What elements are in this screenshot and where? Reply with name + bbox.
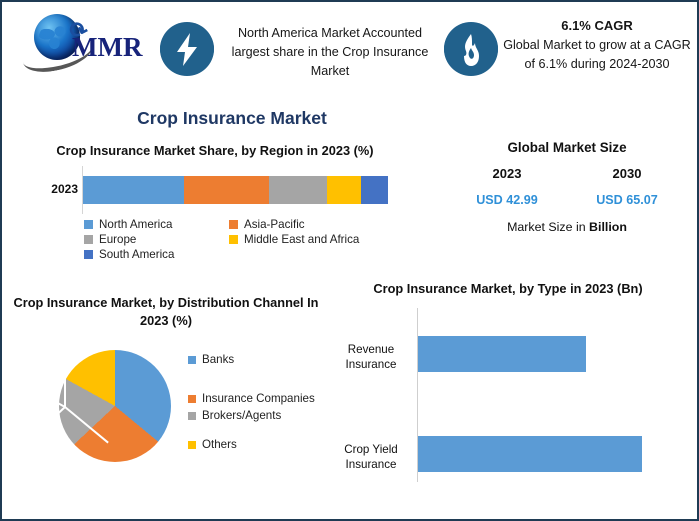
region-chart-title: Crop Insurance Market Share, by Region i… bbox=[10, 142, 420, 160]
region-plot-area: 2023 bbox=[10, 166, 420, 214]
legend-swatch bbox=[188, 356, 196, 364]
region-segment bbox=[269, 176, 327, 204]
region-stacked-bar bbox=[83, 176, 388, 204]
pie-legend-item: Banks bbox=[188, 352, 328, 367]
legend-label: Brokers/Agents bbox=[202, 408, 281, 423]
cagr-description: Global Market to grow at a CAGR of 6.1% … bbox=[503, 38, 691, 71]
gms-unit: Market Size in Billion bbox=[442, 220, 692, 234]
pie-chart-title: Crop Insurance Market, by Distribution C… bbox=[10, 294, 322, 330]
gms-unit-bold: Billion bbox=[589, 220, 627, 234]
legend-label: Middle East and Africa bbox=[244, 233, 359, 246]
legend-label: Europe bbox=[99, 233, 136, 246]
cagr-headline: 6.1% CAGR bbox=[502, 16, 692, 35]
region-share-chart: Crop Insurance Market Share, by Region i… bbox=[10, 142, 420, 261]
pie-legend-item: Brokers/Agents bbox=[188, 408, 328, 423]
legend-label: Insurance Companies bbox=[202, 391, 315, 406]
distribution-channel-chart: Crop Insurance Market, by Distribution C… bbox=[10, 294, 330, 490]
gms-unit-prefix: Market Size in bbox=[507, 220, 589, 234]
page-title: Crop Insurance Market bbox=[2, 108, 462, 129]
region-segment bbox=[361, 176, 388, 204]
type-bar bbox=[418, 336, 586, 372]
flame-icon bbox=[444, 22, 498, 76]
region-legend-item: South America bbox=[84, 248, 229, 261]
region-category-label: 2023 bbox=[20, 182, 78, 196]
region-legend-item: Asia-Pacific bbox=[229, 218, 414, 231]
pie-chart bbox=[59, 350, 171, 462]
gms-year-2023: 2023 bbox=[447, 166, 567, 181]
legend-label: Others bbox=[202, 437, 237, 452]
legend-label: South America bbox=[99, 248, 174, 261]
type-bar-label: Revenue Insurance bbox=[332, 342, 410, 372]
type-bar-label: Crop Yield Insurance bbox=[332, 442, 410, 472]
legend-swatch bbox=[84, 235, 93, 244]
infographic-frame: MMR ⟳ North America Market Accounted lar… bbox=[0, 0, 699, 521]
gms-value-2023: USD 42.99 bbox=[447, 193, 567, 207]
legend-swatch bbox=[229, 220, 238, 229]
region-segment bbox=[327, 176, 361, 204]
gms-value-2030: USD 65.07 bbox=[567, 193, 687, 207]
legend-swatch bbox=[84, 250, 93, 259]
region-segment bbox=[83, 176, 184, 204]
legend-swatch bbox=[229, 235, 238, 244]
lightning-bolt-icon bbox=[160, 22, 214, 76]
header: MMR ⟳ North America Market Accounted lar… bbox=[2, 2, 697, 88]
region-segment bbox=[184, 176, 269, 204]
region-legend-item: Middle East and Africa bbox=[229, 233, 414, 246]
type-bar bbox=[418, 436, 642, 472]
pie-legend: BanksInsurance CompaniesBrokers/AgentsOt… bbox=[188, 352, 328, 457]
global-market-size: Global Market Size 2023 2030 USD 42.99 U… bbox=[442, 140, 692, 234]
header-highlight-2: 6.1% CAGR Global Market to grow at a CAG… bbox=[502, 16, 692, 74]
type-chart-title: Crop Insurance Market, by Type in 2023 (… bbox=[332, 280, 684, 298]
legend-label: Banks bbox=[202, 352, 234, 367]
region-legend-item: North America bbox=[84, 218, 229, 231]
pie-slice-divider bbox=[23, 406, 65, 446]
pie-plot-area: BanksInsurance CompaniesBrokers/AgentsOt… bbox=[10, 330, 330, 490]
legend-label: North America bbox=[99, 218, 172, 231]
pie-legend-item: Insurance Companies bbox=[188, 391, 328, 406]
type-bar-row: Crop Yield Insurance bbox=[332, 432, 694, 480]
legend-swatch bbox=[188, 412, 196, 420]
pie-slice-divider bbox=[15, 379, 65, 408]
region-legend-item: Europe bbox=[84, 233, 229, 246]
region-legend: North AmericaAsia-PacificEuropeMiddle Ea… bbox=[84, 218, 414, 261]
gms-year-2030: 2030 bbox=[567, 166, 687, 181]
pie-legend-item: Others bbox=[188, 437, 328, 452]
mmr-logo: MMR ⟳ bbox=[20, 10, 150, 72]
gms-value-row: USD 42.99 USD 65.07 bbox=[442, 193, 692, 207]
legend-swatch bbox=[84, 220, 93, 229]
header-highlight-1: North America Market Accounted largest s… bbox=[220, 24, 440, 81]
gms-title: Global Market Size bbox=[442, 140, 692, 155]
legend-swatch bbox=[188, 395, 196, 403]
type-chart: Crop Insurance Market, by Type in 2023 (… bbox=[332, 280, 694, 482]
legend-label: Asia-Pacific bbox=[244, 218, 305, 231]
legend-swatch bbox=[188, 441, 196, 449]
type-plot-area: Revenue InsuranceCrop Yield Insurance bbox=[332, 304, 694, 482]
gms-year-row: 2023 2030 bbox=[442, 166, 692, 181]
type-bar-row: Revenue Insurance bbox=[332, 332, 694, 380]
pie-slice-divider bbox=[64, 351, 66, 407]
